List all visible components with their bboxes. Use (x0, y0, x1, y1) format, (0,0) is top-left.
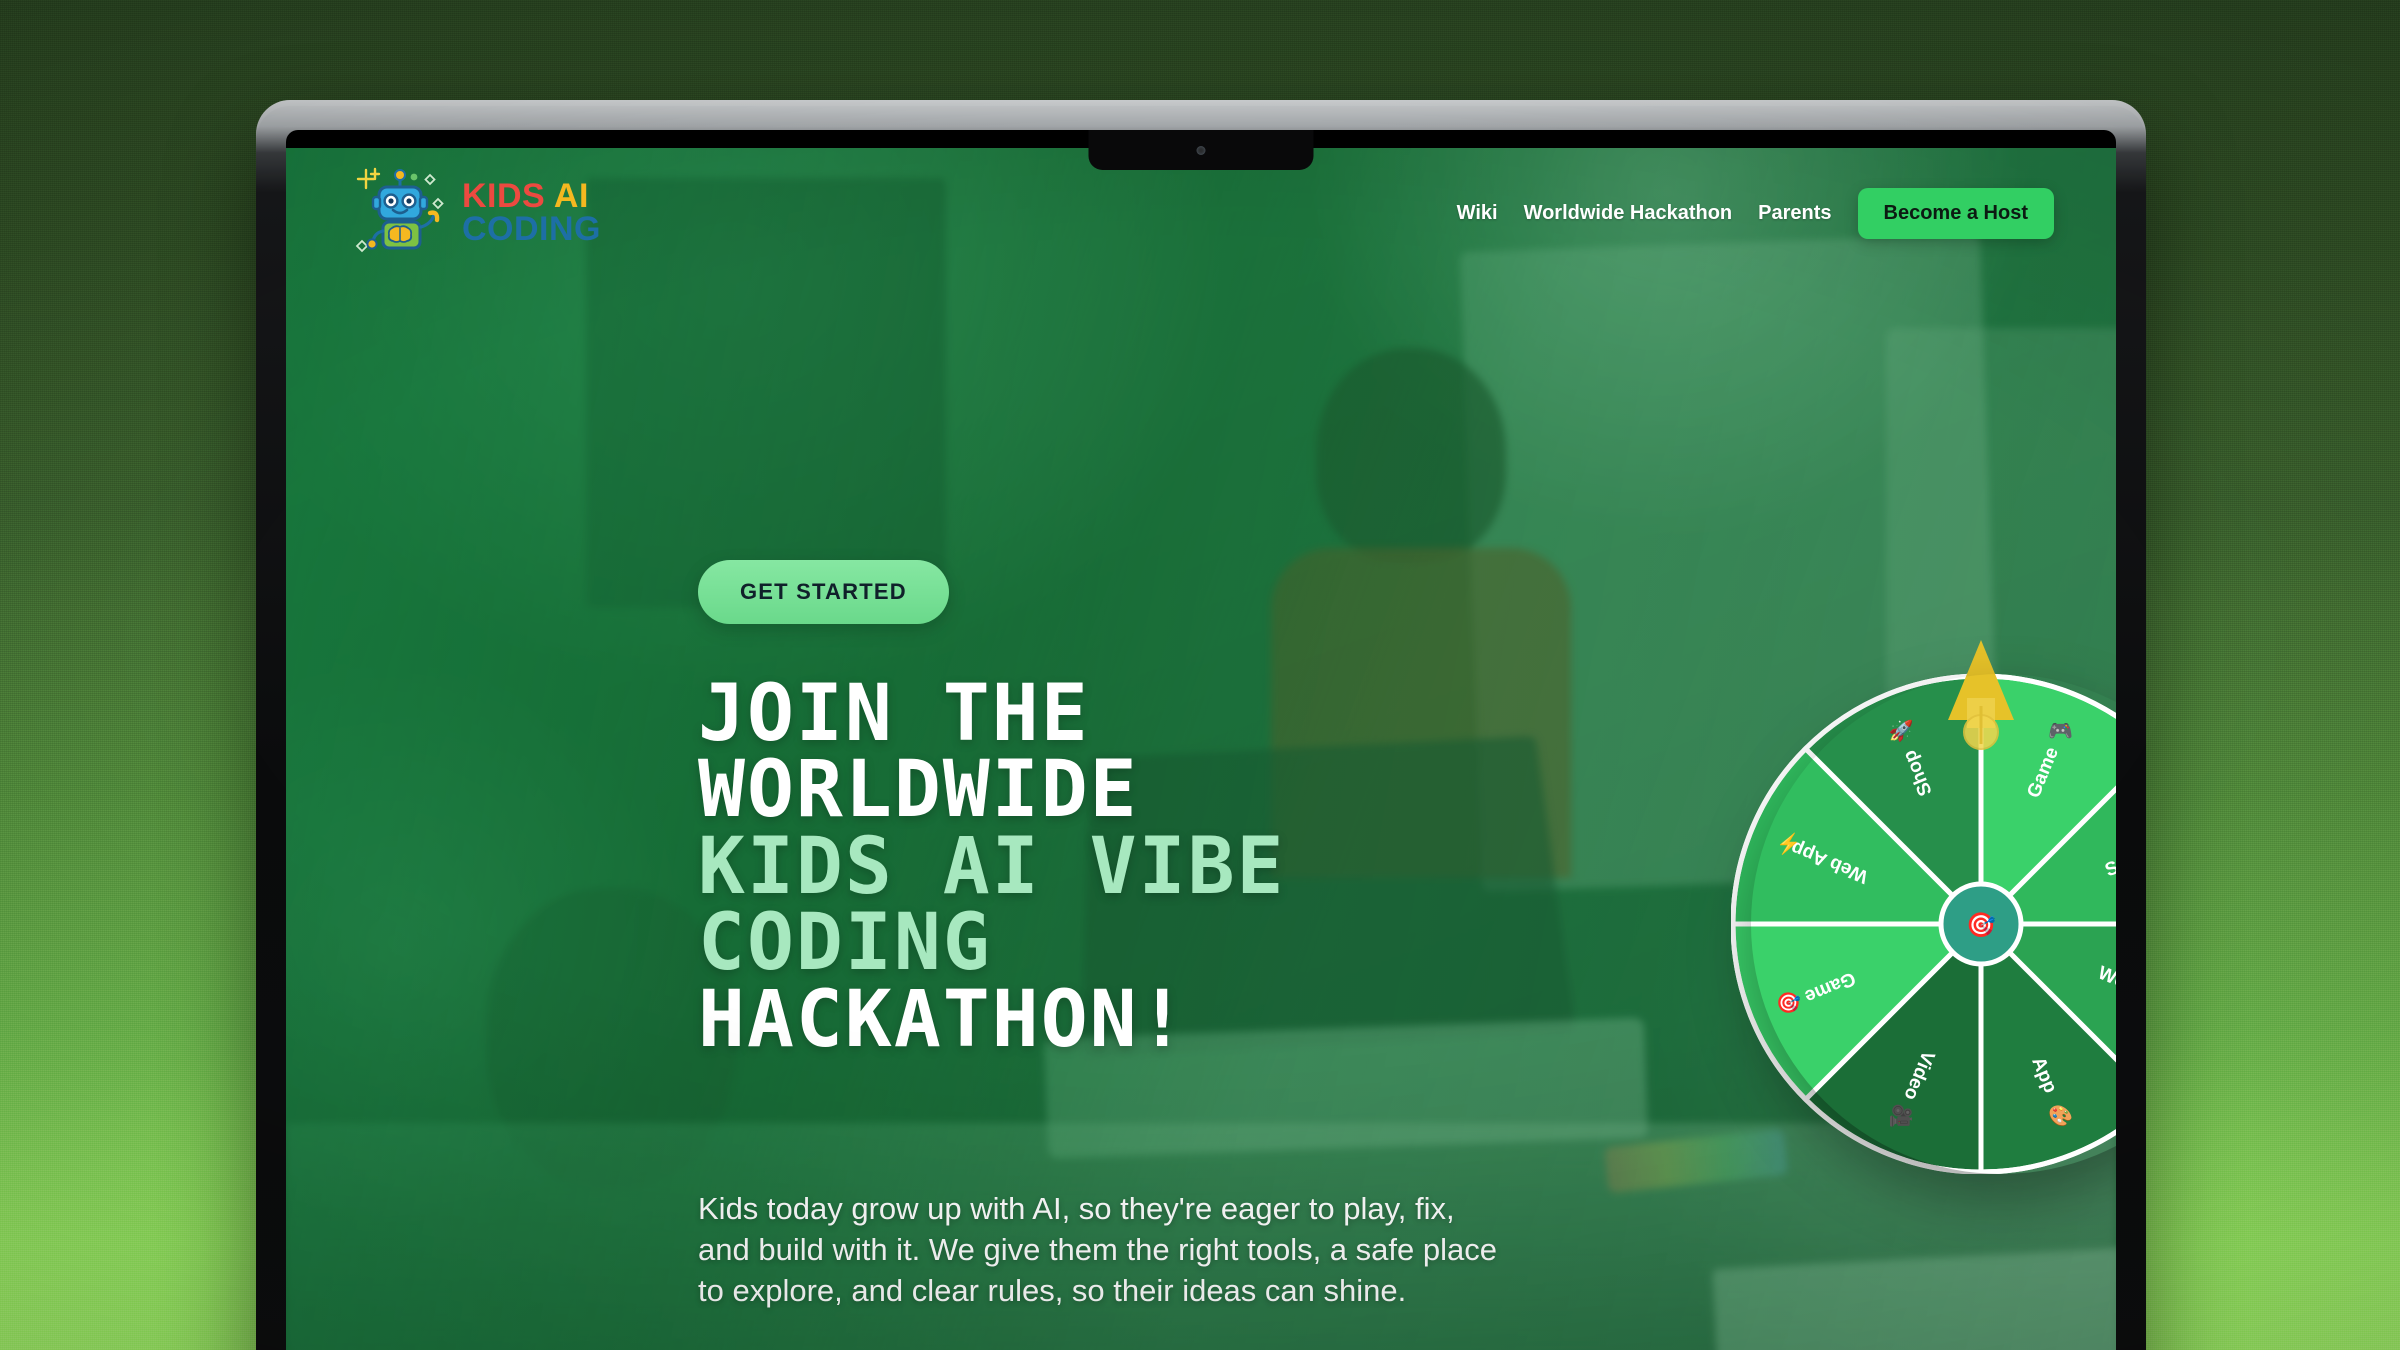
main-navigation: Wiki Worldwide Hackathon Parents Become … (1457, 188, 2054, 239)
robot-icon (352, 165, 448, 261)
hero-title-line-4: CODING (698, 905, 1698, 981)
get-started-button[interactable]: GET STARTED (698, 560, 949, 624)
laptop-notch (1089, 130, 1314, 170)
spin-wheel[interactable]: Game🎮Social📱Website🌐App🎨Video🎥Game🎯Web A… (1731, 634, 2116, 1174)
laptop-device-frame: KIDS AI CODING Wiki Worldwide Hackathon … (256, 100, 2146, 1350)
hero-title-line-3: KIDS AI VIBE (698, 829, 1698, 905)
hero-title-line-5: HACKATHON! (698, 982, 1698, 1058)
laptop-screen-bezel: KIDS AI CODING Wiki Worldwide Hackathon … (286, 130, 2116, 1350)
hero-paragraph: Kids today grow up with AI, so they're e… (698, 1188, 1498, 1312)
hero-title: JOIN THE WORLDWIDE KIDS AI VIBE CODING H… (698, 676, 1698, 1058)
become-a-host-button[interactable]: Become a Host (1858, 188, 2055, 239)
brand-wordmark: KIDS AI CODING (462, 180, 601, 245)
camera-icon (1197, 146, 1206, 155)
hero-title-line-2: WORLDWIDE (698, 752, 1698, 828)
brand-logo[interactable]: KIDS AI CODING (352, 165, 601, 261)
brand-coding-text: CODING (462, 213, 601, 246)
website-viewport: KIDS AI CODING Wiki Worldwide Hackathon … (286, 148, 2116, 1350)
page-background: KIDS AI CODING Wiki Worldwide Hackathon … (0, 0, 2400, 1350)
nav-item-worldwide-hackathon[interactable]: Worldwide Hackathon (1524, 202, 1733, 225)
nav-item-wiki[interactable]: Wiki (1457, 202, 1498, 225)
hero-title-line-1: JOIN THE (698, 676, 1698, 752)
nav-item-parents[interactable]: Parents (1758, 202, 1831, 225)
